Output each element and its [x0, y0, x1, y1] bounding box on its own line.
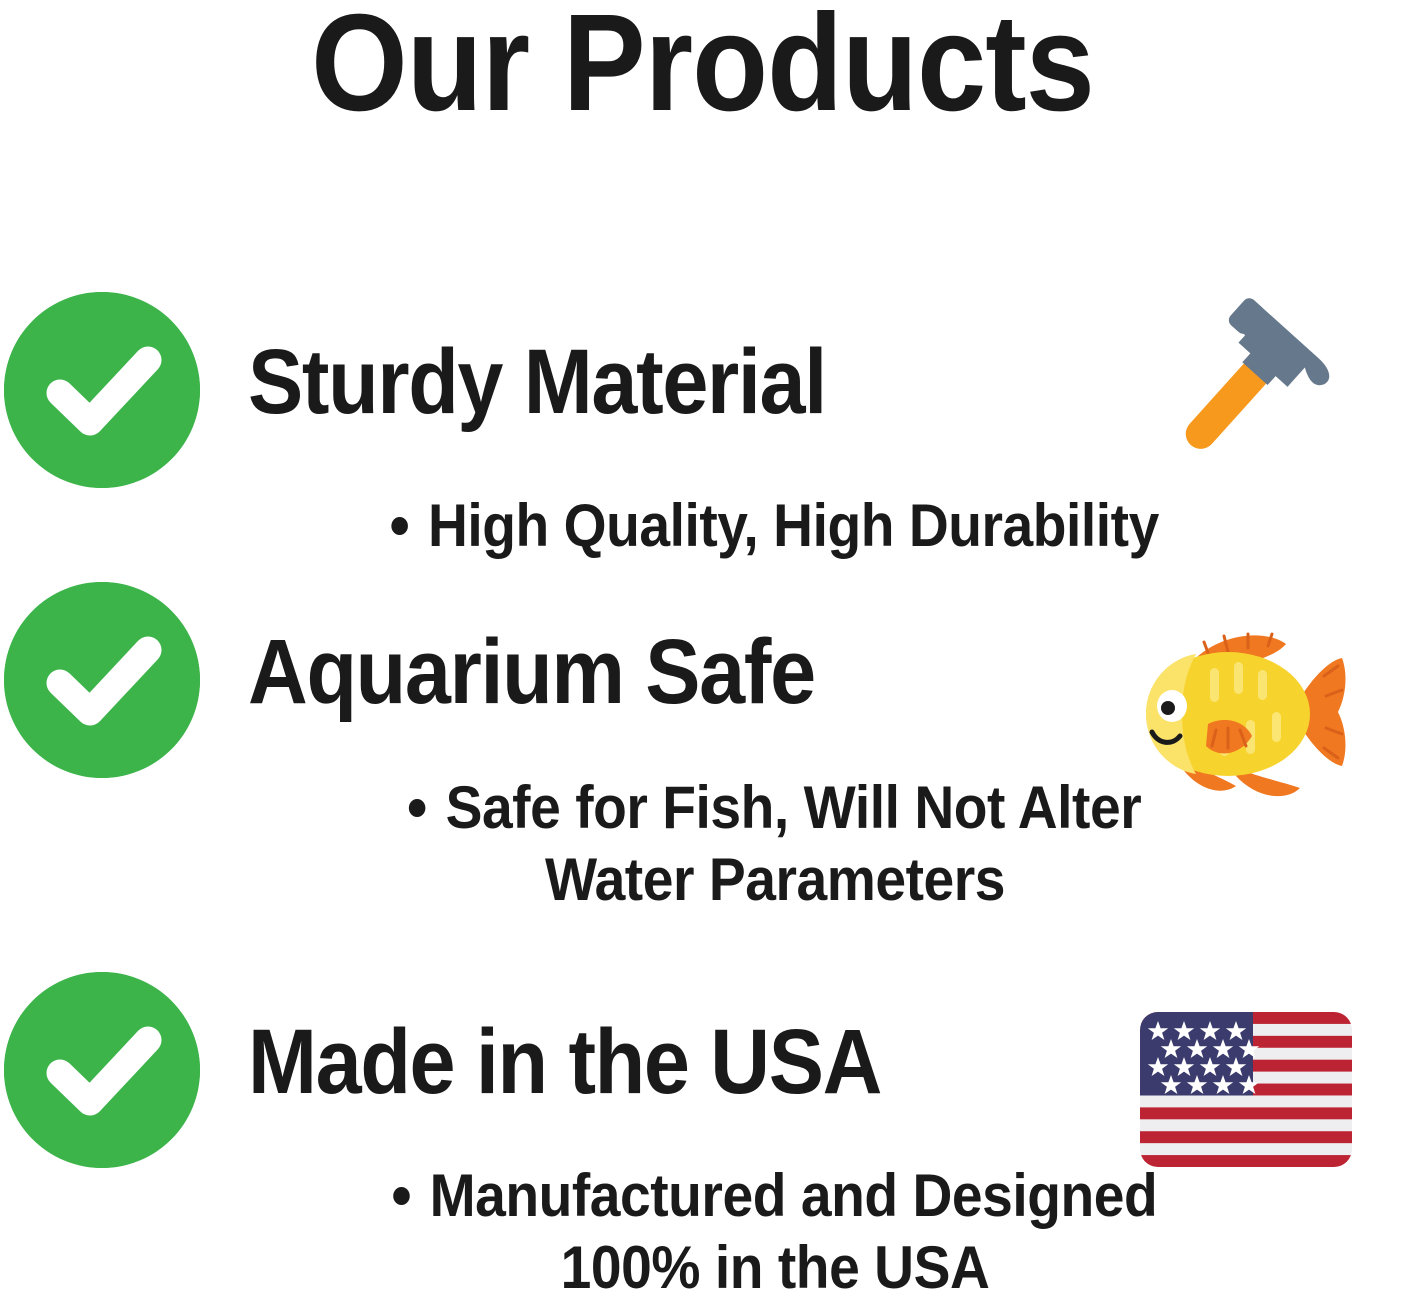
product-features-infographic: Our Products Sturdy Material: [0, 0, 1405, 1314]
feature-bullets-made-in-the-usa: Manufactured and Designed 100% in the US…: [200, 1160, 1350, 1304]
bullet-item-continuation: Water Parameters: [246, 844, 1304, 916]
bullet-text-line-1: Manufactured and Designed: [430, 1162, 1158, 1229]
bullet-item: High Quality, High Durability: [246, 490, 1304, 562]
bullet-text-line-2: 100% in the USA: [561, 1234, 990, 1301]
bullet-item-continuation: 100% in the USA: [246, 1232, 1304, 1304]
feature-heading-row: Sturdy Material: [248, 330, 1368, 450]
green-check-circle-icon: [4, 582, 200, 778]
feature-heading-row: Aquarium Safe: [248, 620, 1368, 740]
feature-heading-sturdy-material: Sturdy Material: [248, 330, 826, 434]
green-check-circle-icon: [4, 292, 200, 488]
bullet-dot-icon: [391, 517, 408, 535]
bullet-text: High Quality, High Durability: [428, 492, 1159, 559]
bullet-text-line-1: Safe for Fish, Will Not Alter: [446, 774, 1142, 841]
feature-heading-made-in-the-usa: Made in the USA: [248, 1010, 881, 1114]
bullet-item: Manufactured and Designed: [246, 1160, 1304, 1232]
page-title: Our Products: [70, 0, 1335, 132]
bullet-dot-icon: [393, 1187, 410, 1205]
feature-bullets-aquarium-safe: Safe for Fish, Will Not Alter Water Para…: [200, 772, 1350, 916]
usa-flag-icon: [1140, 1012, 1352, 1167]
feature-heading-row: Made in the USA: [248, 1010, 1368, 1130]
hammer-icon: [1128, 288, 1348, 488]
feature-bullets-sturdy-material: High Quality, High Durability: [200, 490, 1350, 562]
bullet-item: Safe for Fish, Will Not Alter: [246, 772, 1304, 844]
bullet-text-line-2: Water Parameters: [545, 846, 1005, 913]
green-check-circle-icon: [4, 972, 200, 1168]
bullet-dot-icon: [409, 799, 426, 817]
feature-heading-aquarium-safe: Aquarium Safe: [248, 620, 815, 724]
